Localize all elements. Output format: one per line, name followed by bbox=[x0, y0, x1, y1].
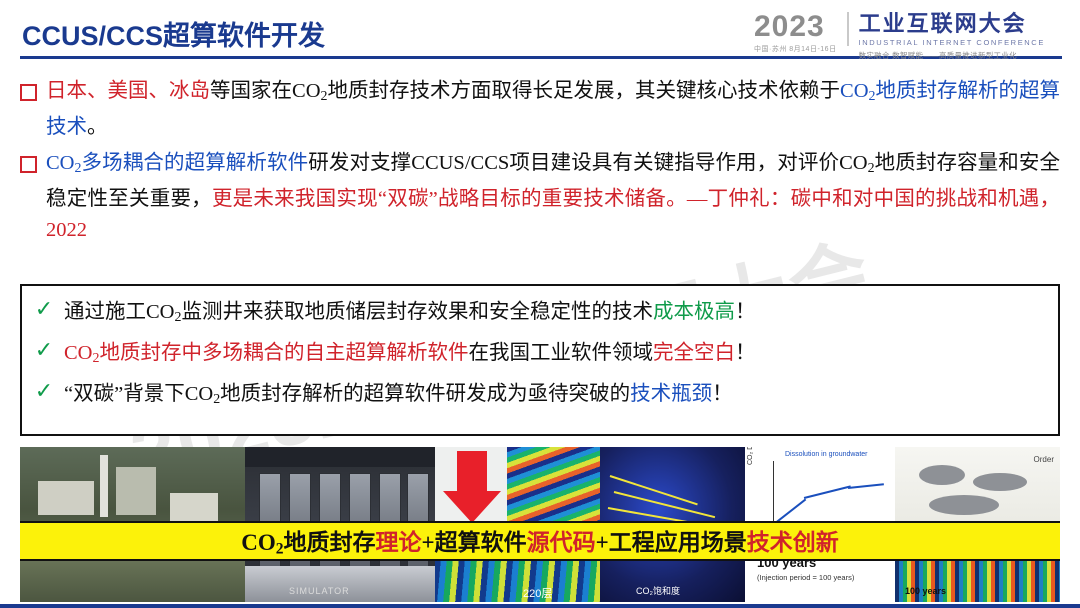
plume-blob bbox=[929, 495, 999, 515]
highlight-panel: ✓ 通过施工CO2监测井来获取地质储层封存效果和安全稳定性的技术成本极高！ ✓ … bbox=[20, 284, 1060, 436]
check-item: ✓ “双碳”背景下CO2地质封存解析的超算软件研发成为亟待突破的技术瓶颈！ bbox=[34, 380, 1048, 414]
plant-building bbox=[38, 481, 94, 515]
plant-building bbox=[170, 493, 218, 523]
chart-series-line bbox=[848, 483, 884, 488]
arrow-stem bbox=[457, 451, 487, 493]
check-icon: ✓ bbox=[34, 380, 54, 404]
bottom-divider bbox=[0, 604, 1080, 608]
chart-title: Dissolution in groundwater bbox=[785, 451, 868, 458]
page-title: CCUS/CCS超算软件开发 bbox=[22, 14, 325, 53]
square-bullet-icon bbox=[20, 156, 37, 173]
plume-blob bbox=[919, 465, 965, 485]
server-room-floor bbox=[245, 566, 435, 602]
logo-name-cn: 工业互联网大会 bbox=[859, 12, 1045, 36]
check-text-0: 通过施工CO2监测井来获取地质储层封存效果和安全稳定性的技术成本极高！ bbox=[64, 298, 755, 332]
check-item: ✓ 通过施工CO2监测井来获取地质储层封存效果和安全稳定性的技术成本极高！ bbox=[34, 298, 1048, 332]
check-text-2: “双碳”背景下CO2地质封存解析的超算软件研发成为亟待突破的技术瓶颈！ bbox=[64, 380, 733, 414]
bullet-text-0: 日本、美国、冰岛等国家在CO2地质封存技术方面取得长足发展，其关键核心技术依赖于… bbox=[46, 76, 1060, 143]
chart-series-line bbox=[804, 485, 851, 498]
logo-tagline: 数实融合 数智赋能——高质量推进新型工业化 bbox=[859, 50, 1045, 61]
bullet-text-1: CO2多场耦合的超算解析软件研发对支撑CCUS/CCS项目建设具有关键指导作用，… bbox=[46, 148, 1060, 246]
logo-year-subtitle: 中国·苏州 8月14日-16日 bbox=[754, 44, 837, 54]
red-down-arrow-icon bbox=[443, 451, 503, 525]
check-icon: ✓ bbox=[34, 339, 54, 363]
simulator-caption: SIMULATOR bbox=[289, 586, 350, 596]
slide-root: 2023工业互联网大会 CCUS/CCS超算软件开发 2023 中国·苏州 8月… bbox=[0, 0, 1080, 608]
plume-years: 100 years bbox=[905, 586, 946, 596]
bullet-item: 日本、美国、冰岛等国家在CO2地质封存技术方面取得长足发展，其关键核心技术依赖于… bbox=[20, 76, 1060, 143]
logo-name-en: INDUSTRIAL INTERNET CONFERENCE bbox=[859, 38, 1045, 47]
check-icon: ✓ bbox=[34, 298, 54, 322]
check-item: ✓ CO2地质封存中多场耦合的自主超算解析软件在我国工业软件领域完全空白！ bbox=[34, 339, 1048, 373]
bullet-list: 日本、美国、冰岛等国家在CO2地质封存技术方面取得长足发展，其关键核心技术依赖于… bbox=[20, 76, 1060, 251]
conference-logo: 2023 中国·苏州 8月14日-16日 工业互联网大会 INDUSTRIAL … bbox=[754, 12, 1064, 58]
plume-blob bbox=[973, 473, 1027, 491]
server-room-ceiling bbox=[245, 447, 435, 467]
plant-chimney bbox=[100, 455, 108, 517]
summary-banner-text: CO2地质封存理论+超算软件源代码+工程应用场景技术创新 bbox=[241, 523, 839, 558]
co2-saturation-caption: CO₂饱和度 bbox=[636, 584, 680, 597]
strata-label-bottom: 220层 bbox=[523, 585, 552, 601]
chart-y-label: CO₂ Dissolved bbox=[747, 447, 754, 465]
logo-year: 2023 bbox=[754, 12, 837, 42]
logo-divider bbox=[847, 12, 849, 46]
chart-years-note: (Injection period = 100 years) bbox=[757, 573, 854, 582]
check-text-1: CO2地质封存中多场耦合的自主超算解析软件在我国工业软件领域完全空白！ bbox=[64, 339, 755, 373]
strata-layers-bottom bbox=[435, 557, 600, 602]
plume-label: Order bbox=[1034, 455, 1054, 464]
square-bullet-icon bbox=[20, 84, 37, 101]
summary-banner: CO2地质封存理论+超算软件源代码+工程应用场景技术创新 bbox=[20, 521, 1060, 561]
bullet-item: CO2多场耦合的超算解析软件研发对支撑CCUS/CCS项目建设具有关键指导作用，… bbox=[20, 148, 1060, 246]
arrow-head bbox=[443, 491, 501, 523]
plant-building bbox=[116, 467, 156, 515]
